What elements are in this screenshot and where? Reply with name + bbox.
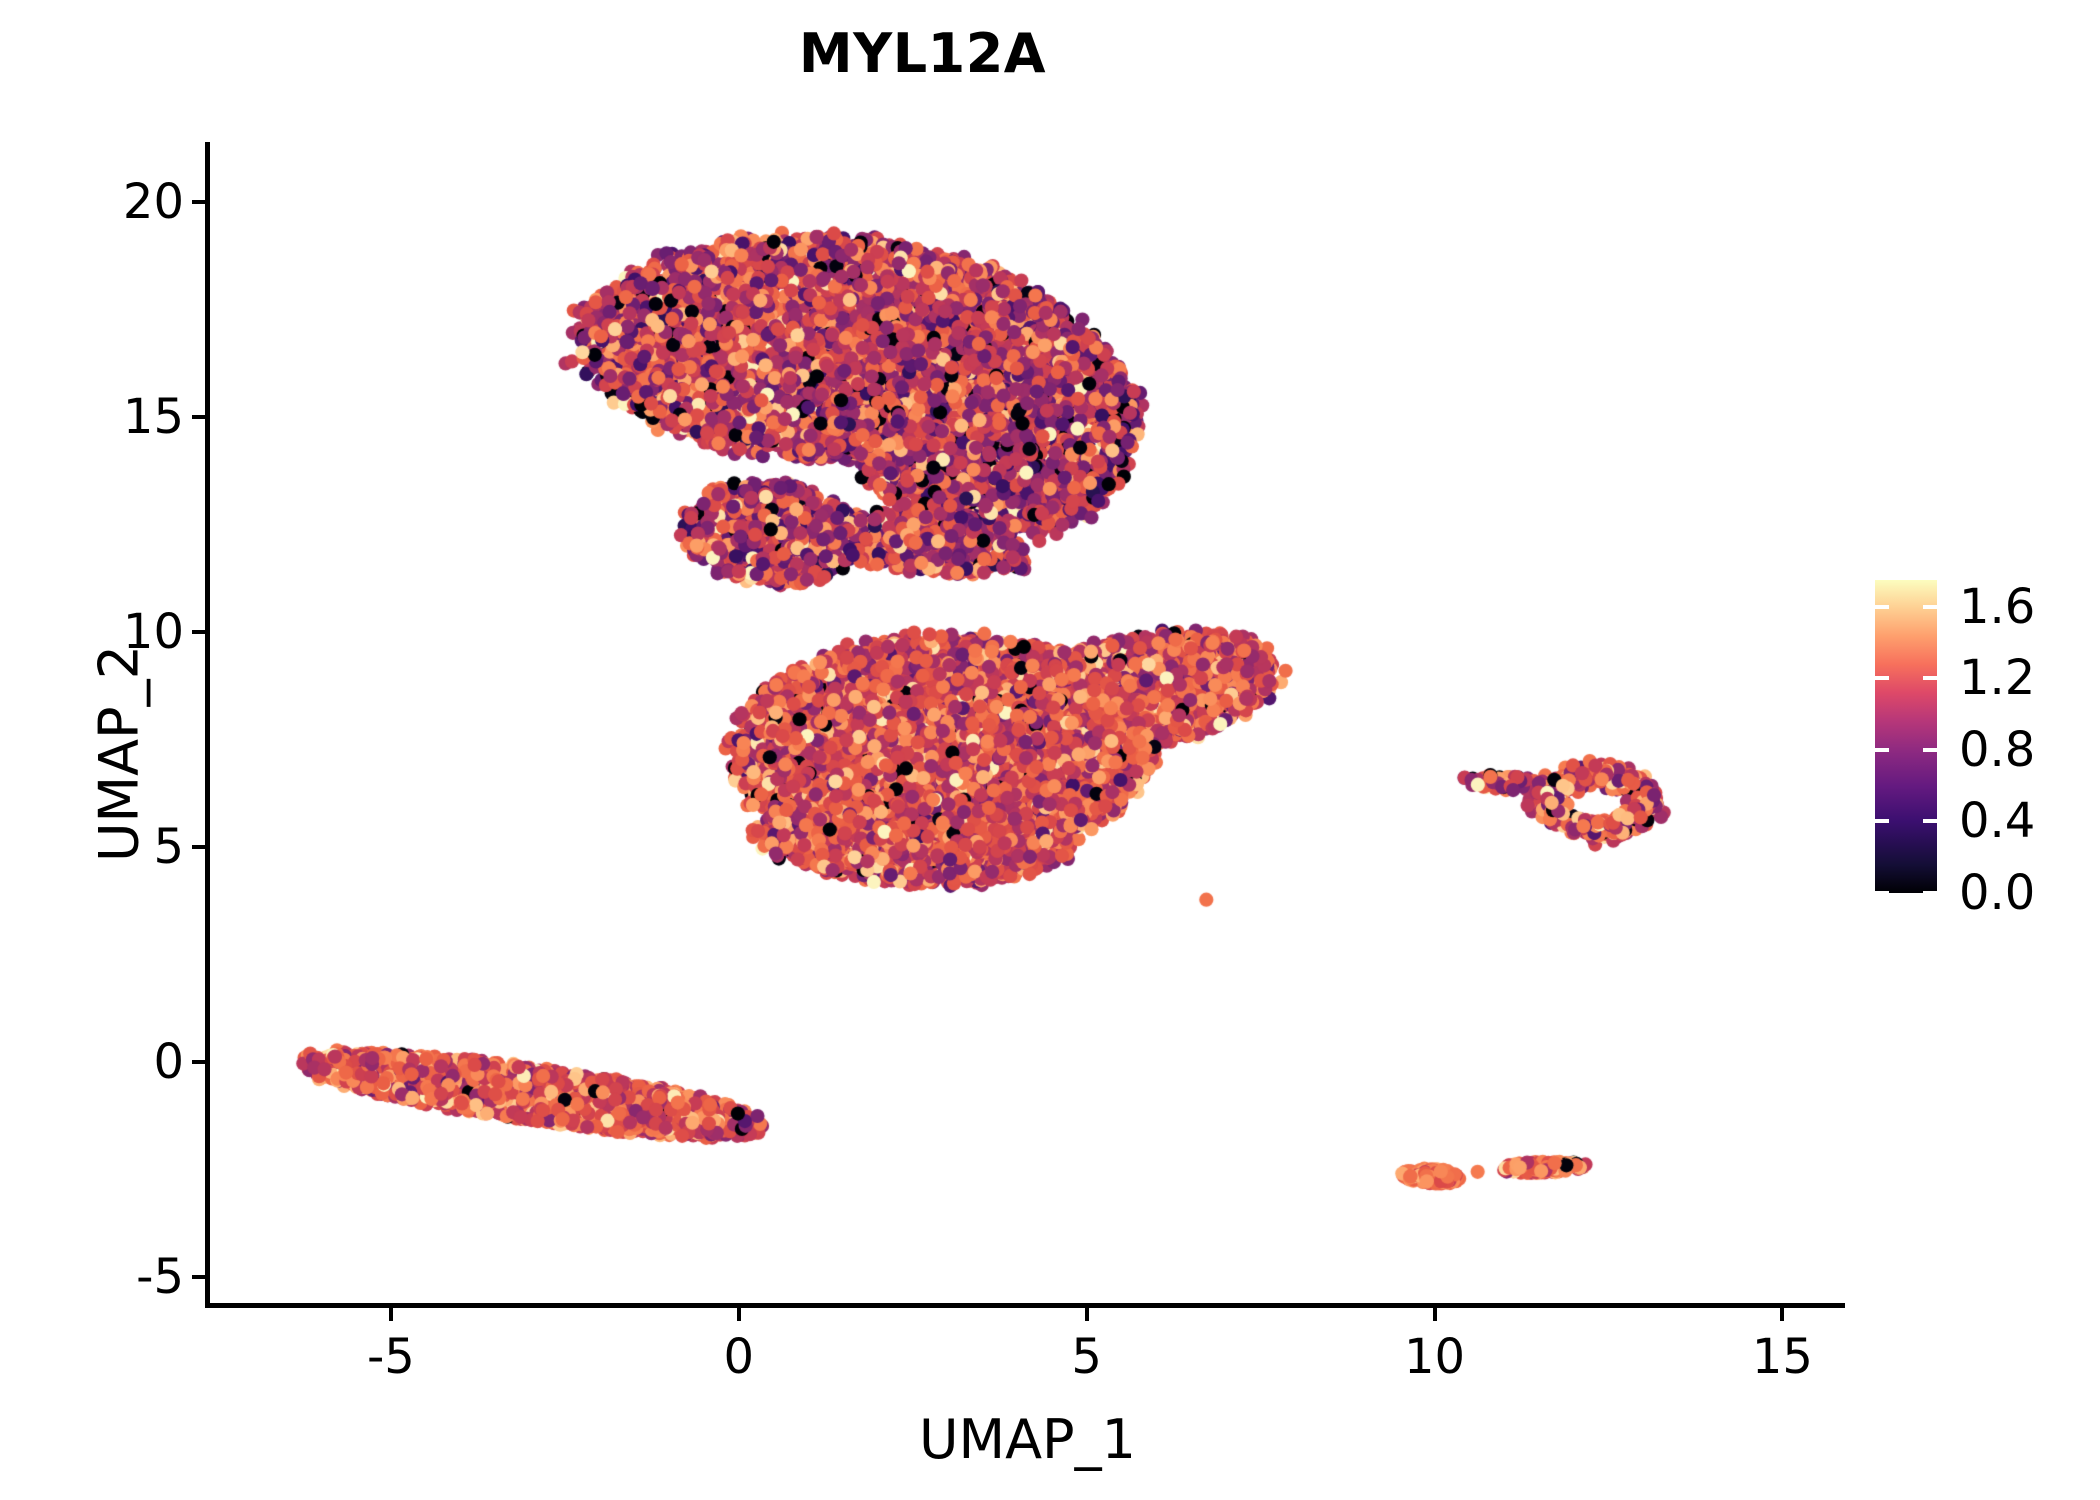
x-tick-mark [1780, 1303, 1784, 1321]
page-title: MYL12A [0, 22, 1845, 85]
x-tick-mark [389, 1303, 393, 1321]
colorbar-tick-mark [1875, 605, 1889, 609]
colorbar-tick-label: 0.4 [1959, 793, 2035, 849]
y-tick-label: 5 [153, 819, 184, 875]
x-tick-label: 0 [723, 1329, 754, 1385]
colorbar: 0.00.40.81.21.6 [1875, 580, 1937, 893]
y-tick-mark [192, 1060, 210, 1064]
x-tick-mark [737, 1303, 741, 1321]
scatter-points [210, 142, 1845, 1303]
colorbar-tick-label: 0.0 [1959, 865, 2035, 921]
axis-spine-bottom [205, 1303, 1845, 1308]
colorbar-tick-label: 1.6 [1959, 579, 2035, 635]
x-tick-label: 15 [1752, 1329, 1813, 1385]
umap-feature-plot: MYL12A -505101520 -5051015 UMAP_1 UMAP_2… [0, 0, 2100, 1500]
colorbar-tick-mark [1923, 748, 1937, 752]
y-tick-mark [192, 200, 210, 204]
x-tick-mark [1085, 1303, 1089, 1321]
x-axis-label: UMAP_1 [210, 1408, 1845, 1471]
y-tick-mark [192, 1275, 210, 1279]
y-tick-mark [192, 845, 210, 849]
x-tick-label: -5 [367, 1329, 415, 1385]
colorbar-tick-mark [1875, 676, 1889, 680]
x-tick-label: 5 [1071, 1329, 1102, 1385]
x-tick-mark [1433, 1303, 1437, 1321]
y-tick-label: 20 [123, 174, 184, 230]
colorbar-tick-label: 1.2 [1959, 650, 2035, 706]
colorbar-tick-mark [1923, 891, 1937, 895]
plot-area: -505101520 -5051015 [210, 142, 1845, 1303]
y-tick-label: -5 [136, 1249, 184, 1305]
colorbar-gradient [1875, 580, 1937, 893]
y-axis-label: UMAP_2 [88, 404, 151, 1104]
colorbar-tick-mark [1875, 748, 1889, 752]
colorbar-tick-mark [1923, 676, 1937, 680]
colorbar-tick-mark [1923, 605, 1937, 609]
colorbar-tick-mark [1923, 819, 1937, 823]
y-tick-mark [192, 415, 210, 419]
colorbar-tick-mark [1875, 891, 1889, 895]
y-tick-mark [192, 630, 210, 634]
colorbar-tick-label: 0.8 [1959, 722, 2035, 778]
y-tick-label: 0 [153, 1034, 184, 1090]
x-tick-label: 10 [1404, 1329, 1465, 1385]
colorbar-tick-mark [1875, 819, 1889, 823]
